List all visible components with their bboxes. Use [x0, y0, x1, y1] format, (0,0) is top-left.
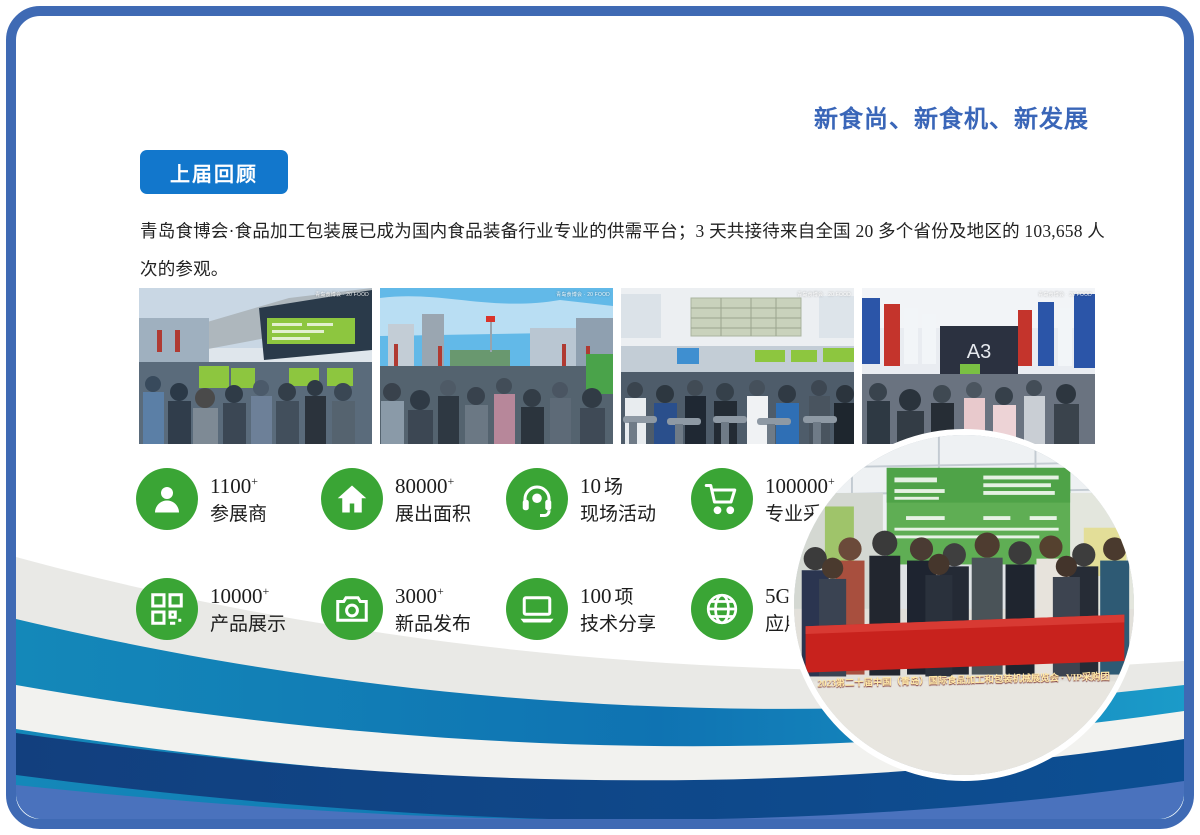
stat-item-tech-sharing: 100项 技术分享 — [506, 576, 691, 686]
stat-label: 现场活动 — [580, 501, 656, 529]
intro-paragraph: 青岛食博会·食品加工包装展已成为国内食品装备行业专业的供需平台；3 天共接待来自… — [140, 212, 1105, 288]
stat-item-exhibit-area: 80000+ 展出面积 — [321, 466, 506, 576]
photo-exhibition-aisle-a3: A3 青岛食博会 · 20 F — [862, 288, 1095, 444]
photo-watermark: 青岛食博会 · 20 FOOD — [556, 291, 610, 298]
stat-label: 新品发布 — [395, 611, 471, 639]
user-icon — [136, 468, 198, 530]
qrcode-icon — [136, 578, 198, 640]
stat-item-product-display: 10000+ 产品展示 — [136, 576, 321, 686]
stat-value: 100项 — [580, 578, 656, 611]
photo-strip: 青岛食博会 · 20 FOOD — [139, 288, 1107, 444]
stat-value: 3000+ — [395, 578, 471, 611]
stat-item-exhibitors: 1100+ 参展商 — [136, 466, 321, 576]
poster-page: 新食尚、新食机、新发展 上届回顾 青岛食博会·食品加工包装展已成为国内食品装备行… — [0, 0, 1200, 835]
camera-icon — [321, 578, 383, 640]
stat-label: 产品展示 — [210, 611, 286, 639]
laptop-icon — [506, 578, 568, 640]
stat-value: 80000+ — [395, 468, 471, 501]
photo-outdoor-queue-crowd: 青岛食博会 · 20 FOOD — [380, 288, 613, 444]
globe-icon — [691, 578, 753, 640]
photo-watermark: 青岛食博会 · 20 FOOD — [315, 291, 369, 298]
headset-icon — [506, 468, 568, 530]
page-title: 新食尚、新食机、新发展 — [814, 99, 1089, 134]
stat-item-new-product-launch: 3000+ 新品发布 — [321, 576, 506, 686]
stat-label: 参展商 — [210, 501, 267, 529]
home-icon — [321, 468, 383, 530]
content-clip-area: 新食尚、新食机、新发展 上届回顾 青岛食博会·食品加工包装展已成为国内食品装备行… — [16, 16, 1184, 819]
stat-value: 10000+ — [210, 578, 286, 611]
stat-label: 展出面积 — [395, 501, 471, 529]
section-badge: 上届回顾 — [140, 150, 288, 194]
stat-label: 技术分享 — [580, 611, 656, 639]
cart-icon — [691, 468, 753, 530]
svg-text:A3: A3 — [967, 341, 991, 363]
photo-watermark: 青岛食博会 · 20 FOOD — [1038, 291, 1092, 298]
stats-grid: 1100+ 参展商 80000+ 展出面积 — [136, 466, 816, 686]
photo-exhibition-hall-entrance-crowd: 青岛食博会 · 20 FOOD — [139, 288, 372, 444]
photo-entry-turnstiles-crowd: 青岛食博会 · 20 FOOD — [621, 288, 854, 444]
stat-value: 1100+ — [210, 468, 267, 501]
photo-watermark: 青岛食博会 · 20 FOOD — [797, 291, 851, 298]
vip-buyer-group-photo: 2023第二十届中国（青岛）国际食品加工和包装机械展览会 · VIP采购团 — [788, 429, 1140, 781]
stat-value: 10场 — [580, 468, 656, 501]
stat-item-onsite-activities: 10场 现场活动 — [506, 466, 691, 576]
